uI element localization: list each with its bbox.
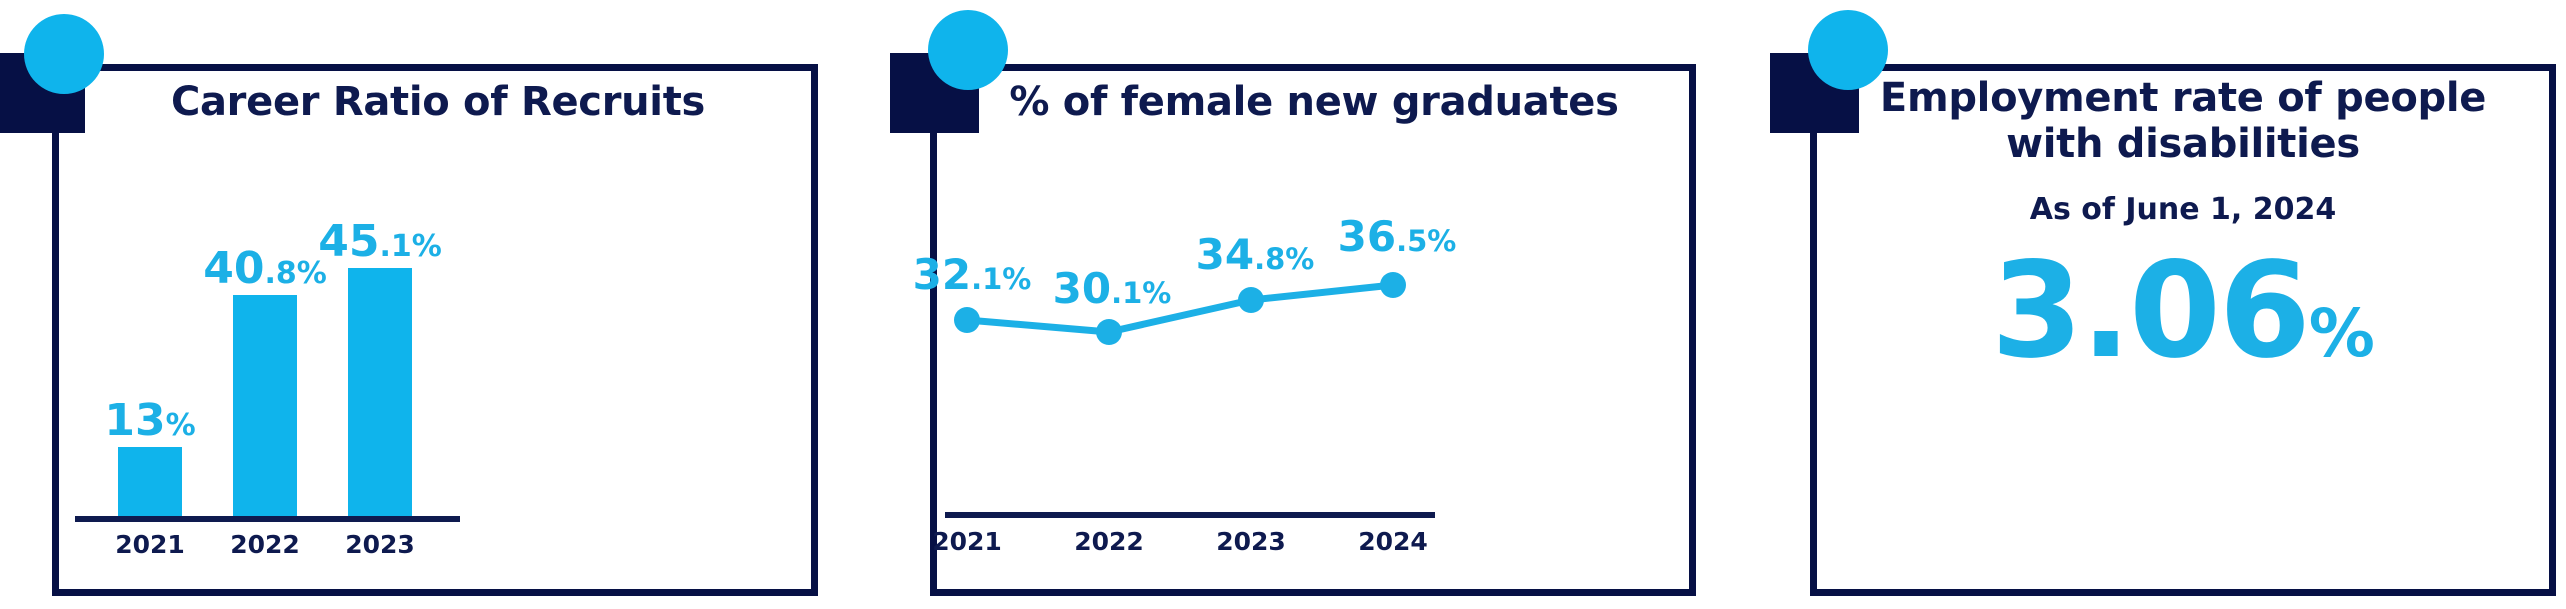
cyan-circle-icon — [1808, 10, 1888, 90]
x-tick-2021: 2021 — [907, 527, 1027, 556]
corner-badge — [1760, 0, 1960, 200]
point-value-label-2022: 30.1% — [1042, 264, 1182, 313]
bar-2021 — [118, 447, 182, 516]
point-value-label-2024: 36.5% — [1327, 212, 1467, 261]
corner-badge — [0, 0, 200, 200]
x-tick-2022: 2022 — [1049, 527, 1169, 556]
data-point-2021 — [954, 307, 980, 333]
panel-employment-rate-of-people-with-disabilities: Employment rate of people with disabilit… — [1760, 0, 2566, 609]
x-axis-line — [75, 516, 460, 522]
panel-percent-of-female-new-graduates: % of female new graduates 32.1% 30.1% 34… — [880, 0, 1760, 609]
x-axis-line — [945, 512, 1435, 518]
bar-2023 — [348, 268, 412, 516]
cyan-circle-icon — [24, 14, 104, 94]
x-tick-2022: 2022 — [205, 530, 325, 559]
x-tick-2023: 2023 — [320, 530, 440, 559]
point-value-label-2023: 34.8% — [1185, 230, 1325, 279]
cyan-circle-icon — [928, 10, 1008, 90]
corner-badge — [880, 0, 1080, 200]
data-point-2022 — [1096, 319, 1122, 345]
data-point-2023 — [1238, 287, 1264, 313]
panel-career-ratio-of-recruits: Career Ratio of Recruits 13% 40.8% 45.1%… — [0, 0, 880, 609]
x-tick-2023: 2023 — [1191, 527, 1311, 556]
x-tick-2024: 2024 — [1333, 527, 1453, 556]
stat-unit: % — [2309, 295, 2375, 372]
data-point-2024 — [1380, 272, 1406, 298]
x-tick-2021: 2021 — [90, 530, 210, 559]
bar-2022 — [233, 295, 297, 516]
bar-value-label-2023: 45.1% — [310, 216, 450, 267]
point-value-label-2021: 32.1% — [902, 250, 1042, 299]
status-badge-employment-rate: 3.06% — [1810, 245, 2556, 377]
bar-value-label-2021: 13% — [90, 395, 210, 446]
stat-number: 3.06 — [1991, 234, 2309, 388]
